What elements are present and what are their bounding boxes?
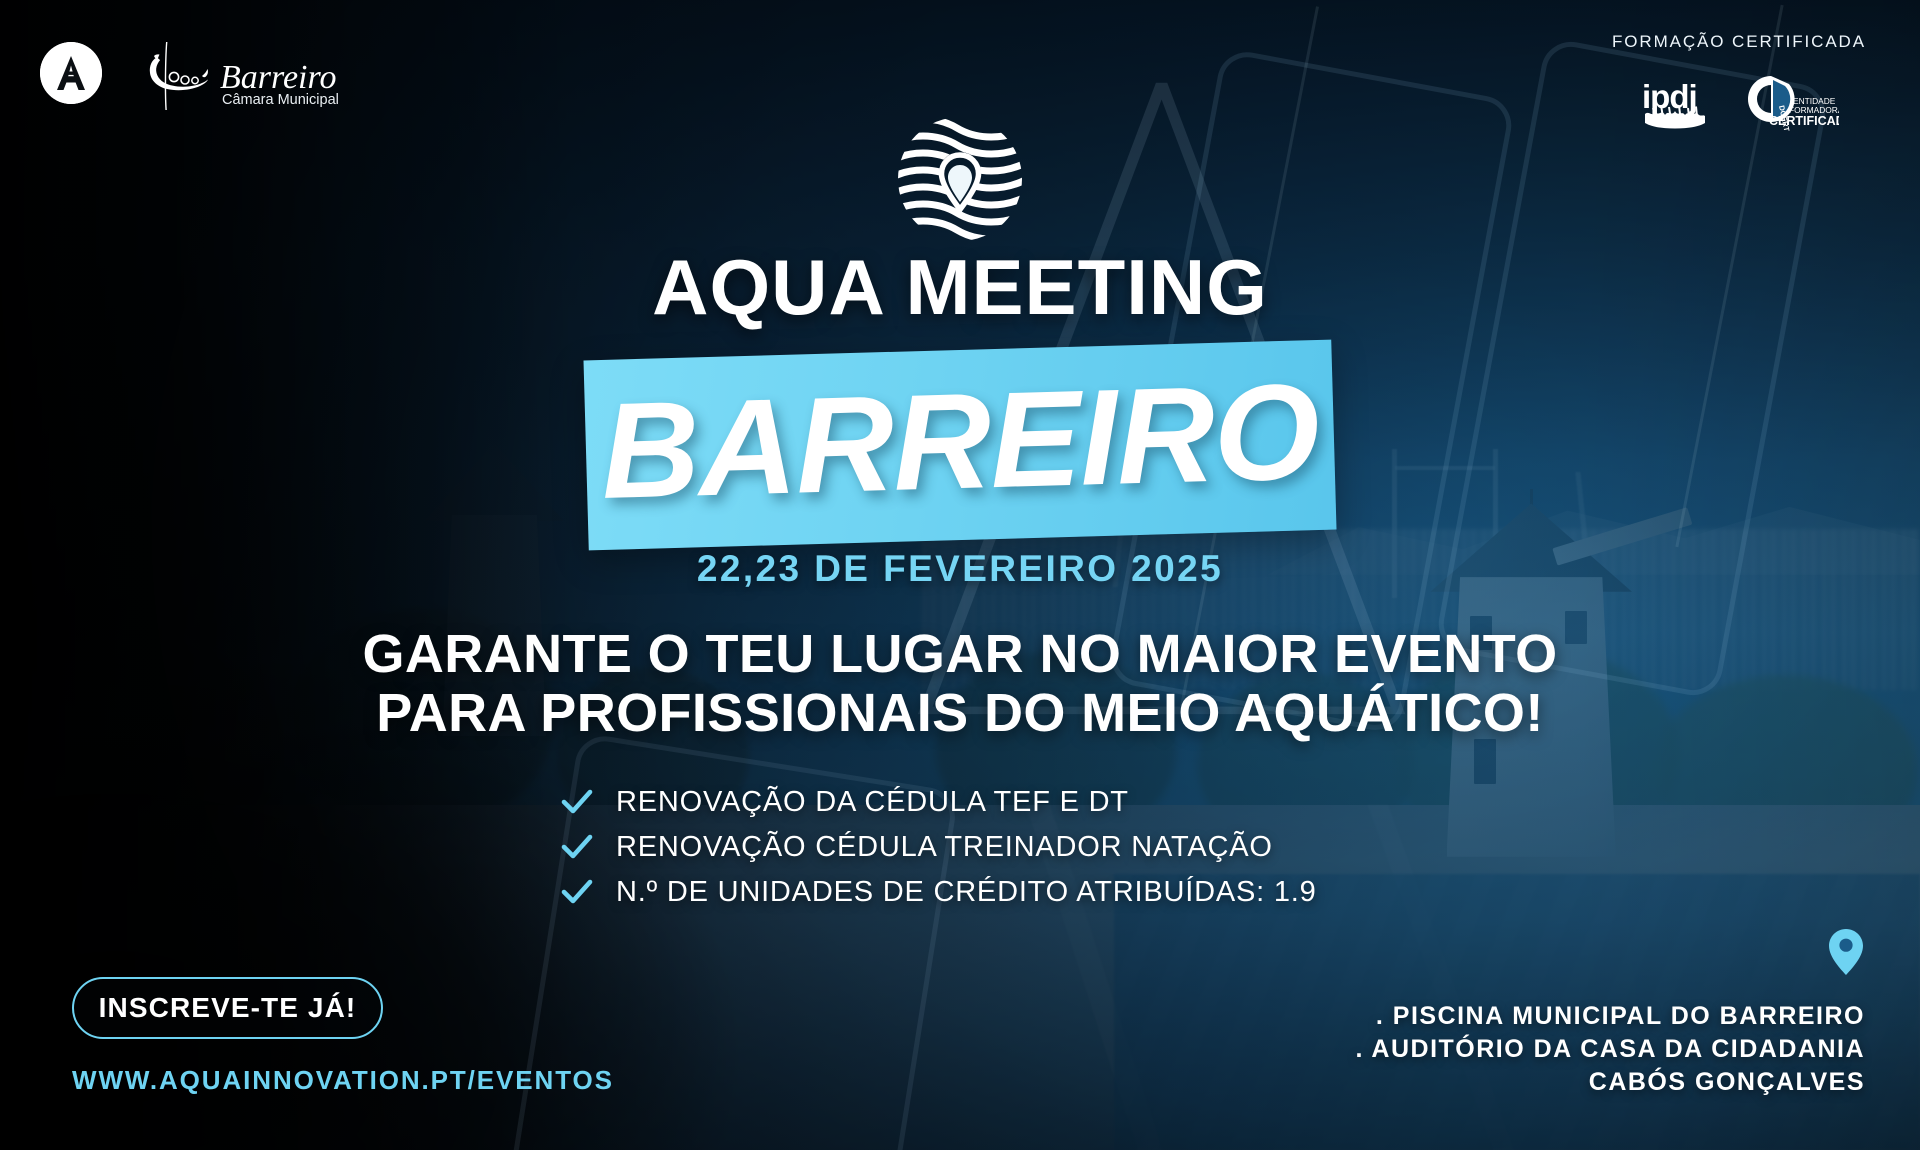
venue-line-3: CABÓS GONÇALVES [1355, 1066, 1865, 1099]
certification-title: FORMAÇÃO CERTIFICADA [1604, 32, 1874, 52]
register-button[interactable]: INSCREVE-TE JÁ! [72, 977, 383, 1039]
list-item: N.º DE UNIDADES DE CRÉDITO ATRIBUÍDAS: 1… [560, 875, 1317, 909]
benefits-list: RENOVAÇÃO DA CÉDULA TEF E DT RENOVAÇÃO C… [560, 785, 1317, 920]
event-date: 22,23 DE FEVEREIRO 2025 [0, 548, 1920, 590]
venue-line-1: . PISCINA MUNICIPAL DO BARREIRO [1355, 1000, 1865, 1033]
aqua-innovation-a-logo[interactable] [40, 42, 102, 104]
barreiro-municipality-logo[interactable]: Barreiro Câmara Municipal [138, 36, 343, 114]
list-item-label: N.º DE UNIDADES DE CRÉDITO ATRIBUÍDAS: 1… [616, 876, 1317, 909]
list-item-label: RENOVAÇÃO CÉDULA TREINADOR NATAÇÃO [616, 831, 1273, 864]
city-banner: BARREIRO [583, 340, 1336, 551]
svg-text:Barreiro: Barreiro [220, 59, 336, 96]
event-poster: Barreiro Câmara Municipal FORMAÇÃO CERTI… [0, 0, 1920, 1150]
check-icon [560, 785, 594, 819]
headline: GARANTE O TEU LUGAR NO MAIOR EVENTO PARA… [0, 625, 1920, 744]
venue-block: . PISCINA MUNICIPAL DO BARREIRO . AUDITÓ… [1355, 1000, 1865, 1099]
ipdj-logo[interactable]: ipdj [1639, 74, 1711, 132]
svg-text:Câmara Municipal: Câmara Municipal [222, 92, 339, 108]
page-title: AQUA MEETING [0, 248, 1920, 326]
svg-text:CERTIFICADA: CERTIFICADA [1769, 114, 1839, 128]
entidade-formadora-certificada-logo[interactable]: DGERT ENTIDADE FORMADORA CERTIFICADA [1733, 70, 1839, 132]
headline-line-1: GARANTE O TEU LUGAR NO MAIOR EVENTO [0, 625, 1920, 684]
check-icon [560, 875, 594, 909]
list-item: RENOVAÇÃO DA CÉDULA TEF E DT [560, 785, 1317, 819]
city-banner-label: BARREIRO [583, 336, 1336, 547]
list-item-label: RENOVAÇÃO DA CÉDULA TEF E DT [616, 786, 1129, 819]
register-button-label: INSCREVE-TE JÁ! [99, 992, 357, 1024]
map-pin-icon [1827, 928, 1865, 976]
certification-block: FORMAÇÃO CERTIFICADA ipdj [1604, 32, 1874, 132]
venue-line-2: . AUDITÓRIO DA CASA DA CIDADANIA [1355, 1033, 1865, 1066]
aqua-meeting-fingerprint-pin-logo [893, 112, 1027, 246]
headline-line-2: PARA PROFISSIONAIS DO MEIO AQUÁTICO! [0, 684, 1920, 743]
event-website-link[interactable]: WWW.AQUAINNOVATION.PT/EVENTOS [72, 1065, 614, 1096]
list-item: RENOVAÇÃO CÉDULA TREINADOR NATAÇÃO [560, 830, 1317, 864]
check-icon [560, 830, 594, 864]
